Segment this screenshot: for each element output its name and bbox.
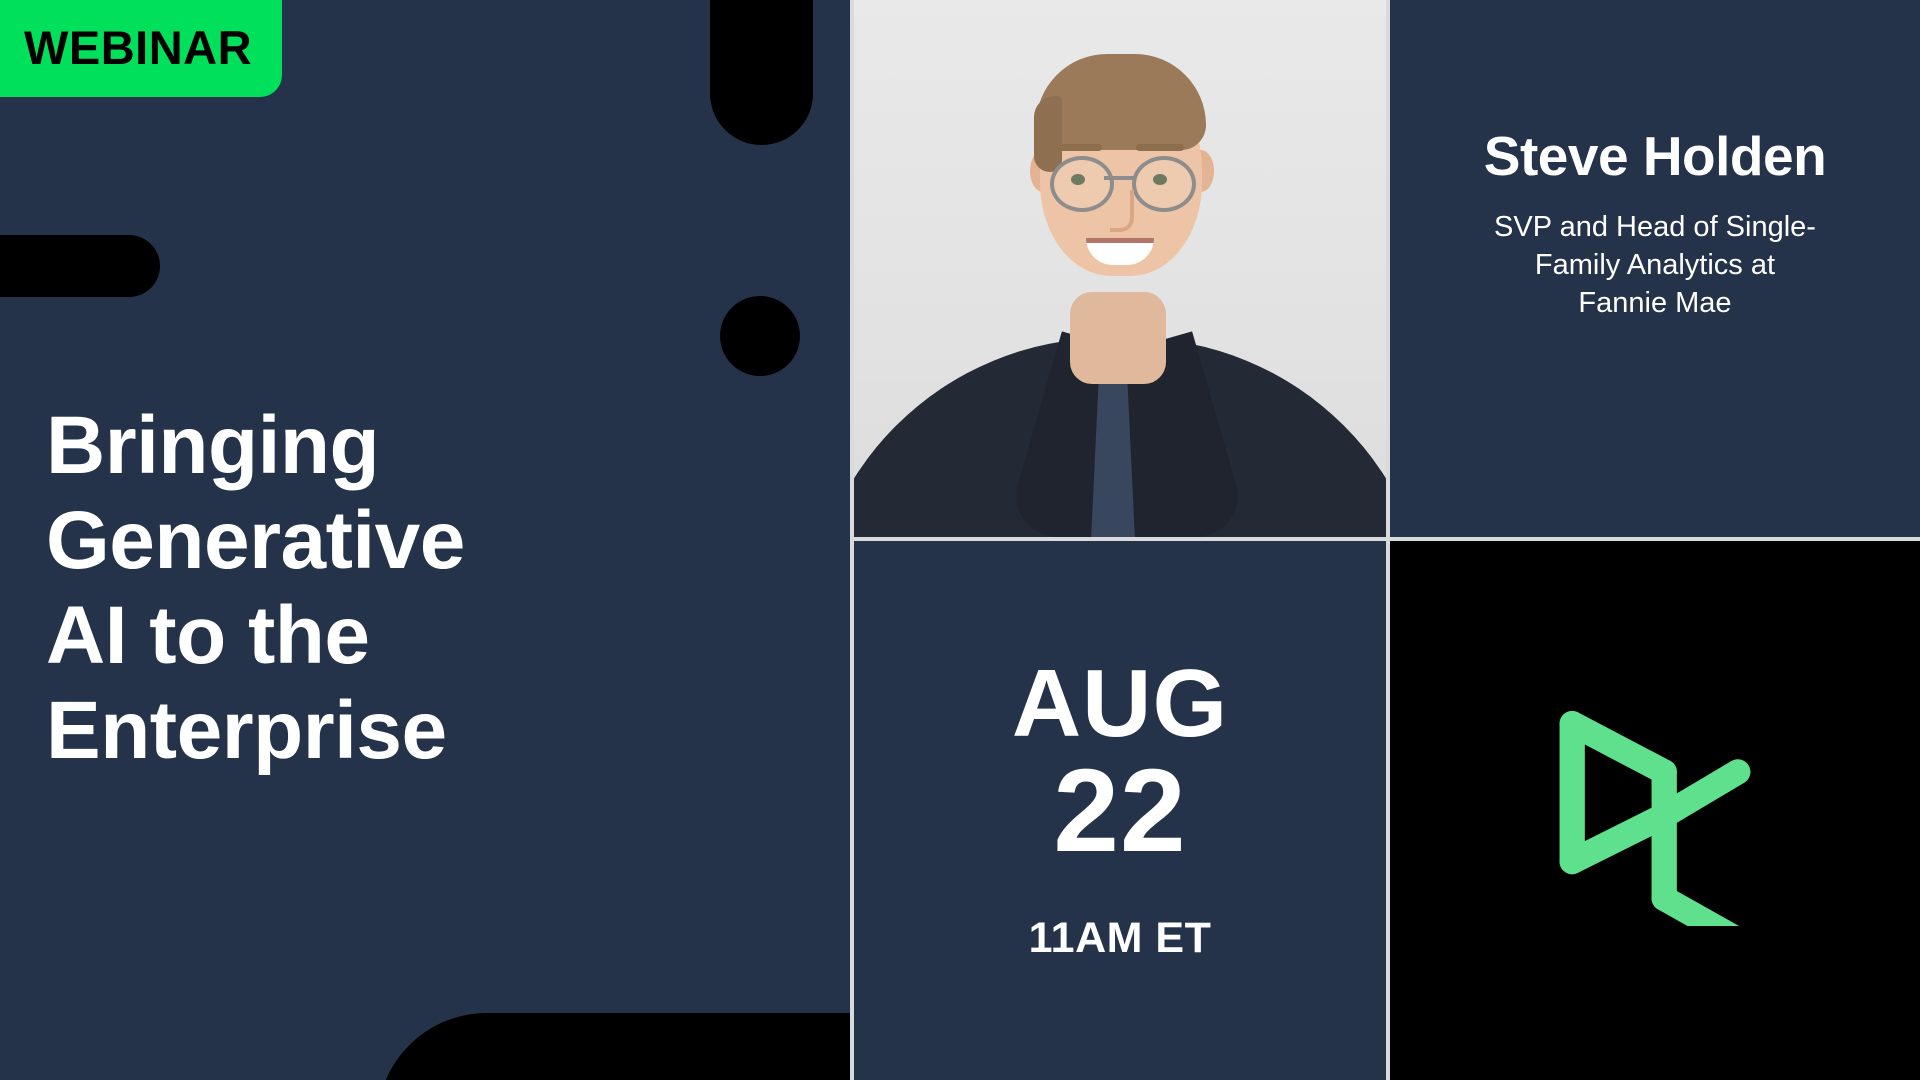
black-bottom-block-decoration: [377, 1013, 850, 1080]
datarobot-logo-icon: [1540, 696, 1770, 926]
photo-eyeglass-right: [1132, 156, 1196, 212]
webinar-badge: WEBINAR: [0, 0, 282, 97]
photo-eyeglass-bridge: [1104, 176, 1134, 180]
black-circle-decoration: [720, 296, 800, 376]
event-month: AUG: [1012, 658, 1228, 750]
event-date-panel: AUG 22 11AM ET: [854, 541, 1386, 1080]
black-pill-left-decoration: [0, 235, 160, 297]
speaker-title-line-2: Family Analytics at: [1535, 249, 1775, 281]
headline-line-2: Generative: [46, 493, 666, 588]
event-day: 22: [1053, 752, 1186, 870]
page-title: Bringing Generative AI to the Enterprise: [46, 398, 666, 778]
photo-nose: [1110, 190, 1134, 232]
speaker-name: Steve Holden: [1484, 128, 1826, 186]
headline-line-1: Bringing: [46, 398, 666, 493]
speaker-title: SVP and Head of Single- Family Analytics…: [1494, 208, 1816, 323]
black-pill-vertical-decoration: [710, 0, 813, 145]
photo-eyebrow-right: [1136, 144, 1184, 151]
speaker-title-line-3: Fannie Mae: [1578, 287, 1731, 319]
photo-eyeglass-left: [1050, 156, 1114, 212]
speaker-info-panel: Steve Holden SVP and Head of Single- Fam…: [1390, 0, 1920, 537]
speaker-photo: [854, 0, 1386, 537]
webinar-promo-poster: WEBINAR Bringing Generative AI to the En…: [0, 0, 1920, 1080]
headline-line-3: AI to the: [46, 588, 666, 683]
photo-hair-side: [1034, 96, 1062, 172]
photo-eyebrow-left: [1054, 144, 1102, 151]
photo-neck: [1070, 292, 1166, 384]
left-panel: WEBINAR Bringing Generative AI to the En…: [0, 0, 850, 1080]
headline-line-4: Enterprise: [46, 683, 666, 778]
event-time: 11AM ET: [1029, 914, 1212, 963]
brand-logo-panel: [1390, 541, 1920, 1080]
speaker-title-line-1: SVP and Head of Single-: [1494, 211, 1816, 243]
